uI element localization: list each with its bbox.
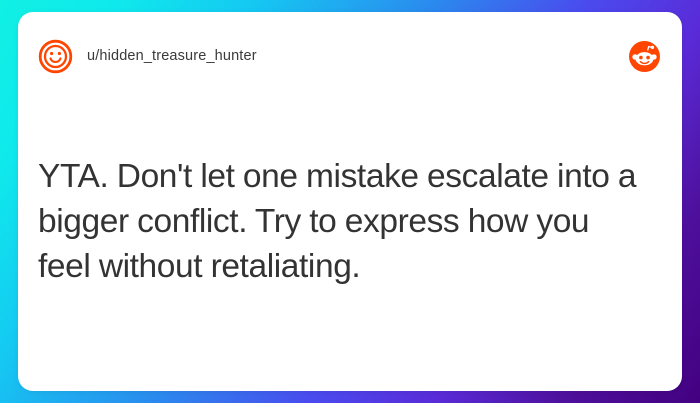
reddit-comment-card: u/hidden_treasure_hunter YTA. Don't let …	[18, 12, 682, 391]
card-header: u/hidden_treasure_hunter	[18, 12, 682, 100]
author-username[interactable]: u/hidden_treasure_hunter	[87, 48, 257, 64]
smiley-face-avatar-icon[interactable]	[38, 39, 73, 74]
reddit-snoo-icon[interactable]	[629, 41, 660, 72]
comment-text: YTA. Don't let one mistake escalate into…	[38, 154, 638, 289]
gradient-backdrop: u/hidden_treasure_hunter YTA. Don't let …	[0, 0, 700, 403]
